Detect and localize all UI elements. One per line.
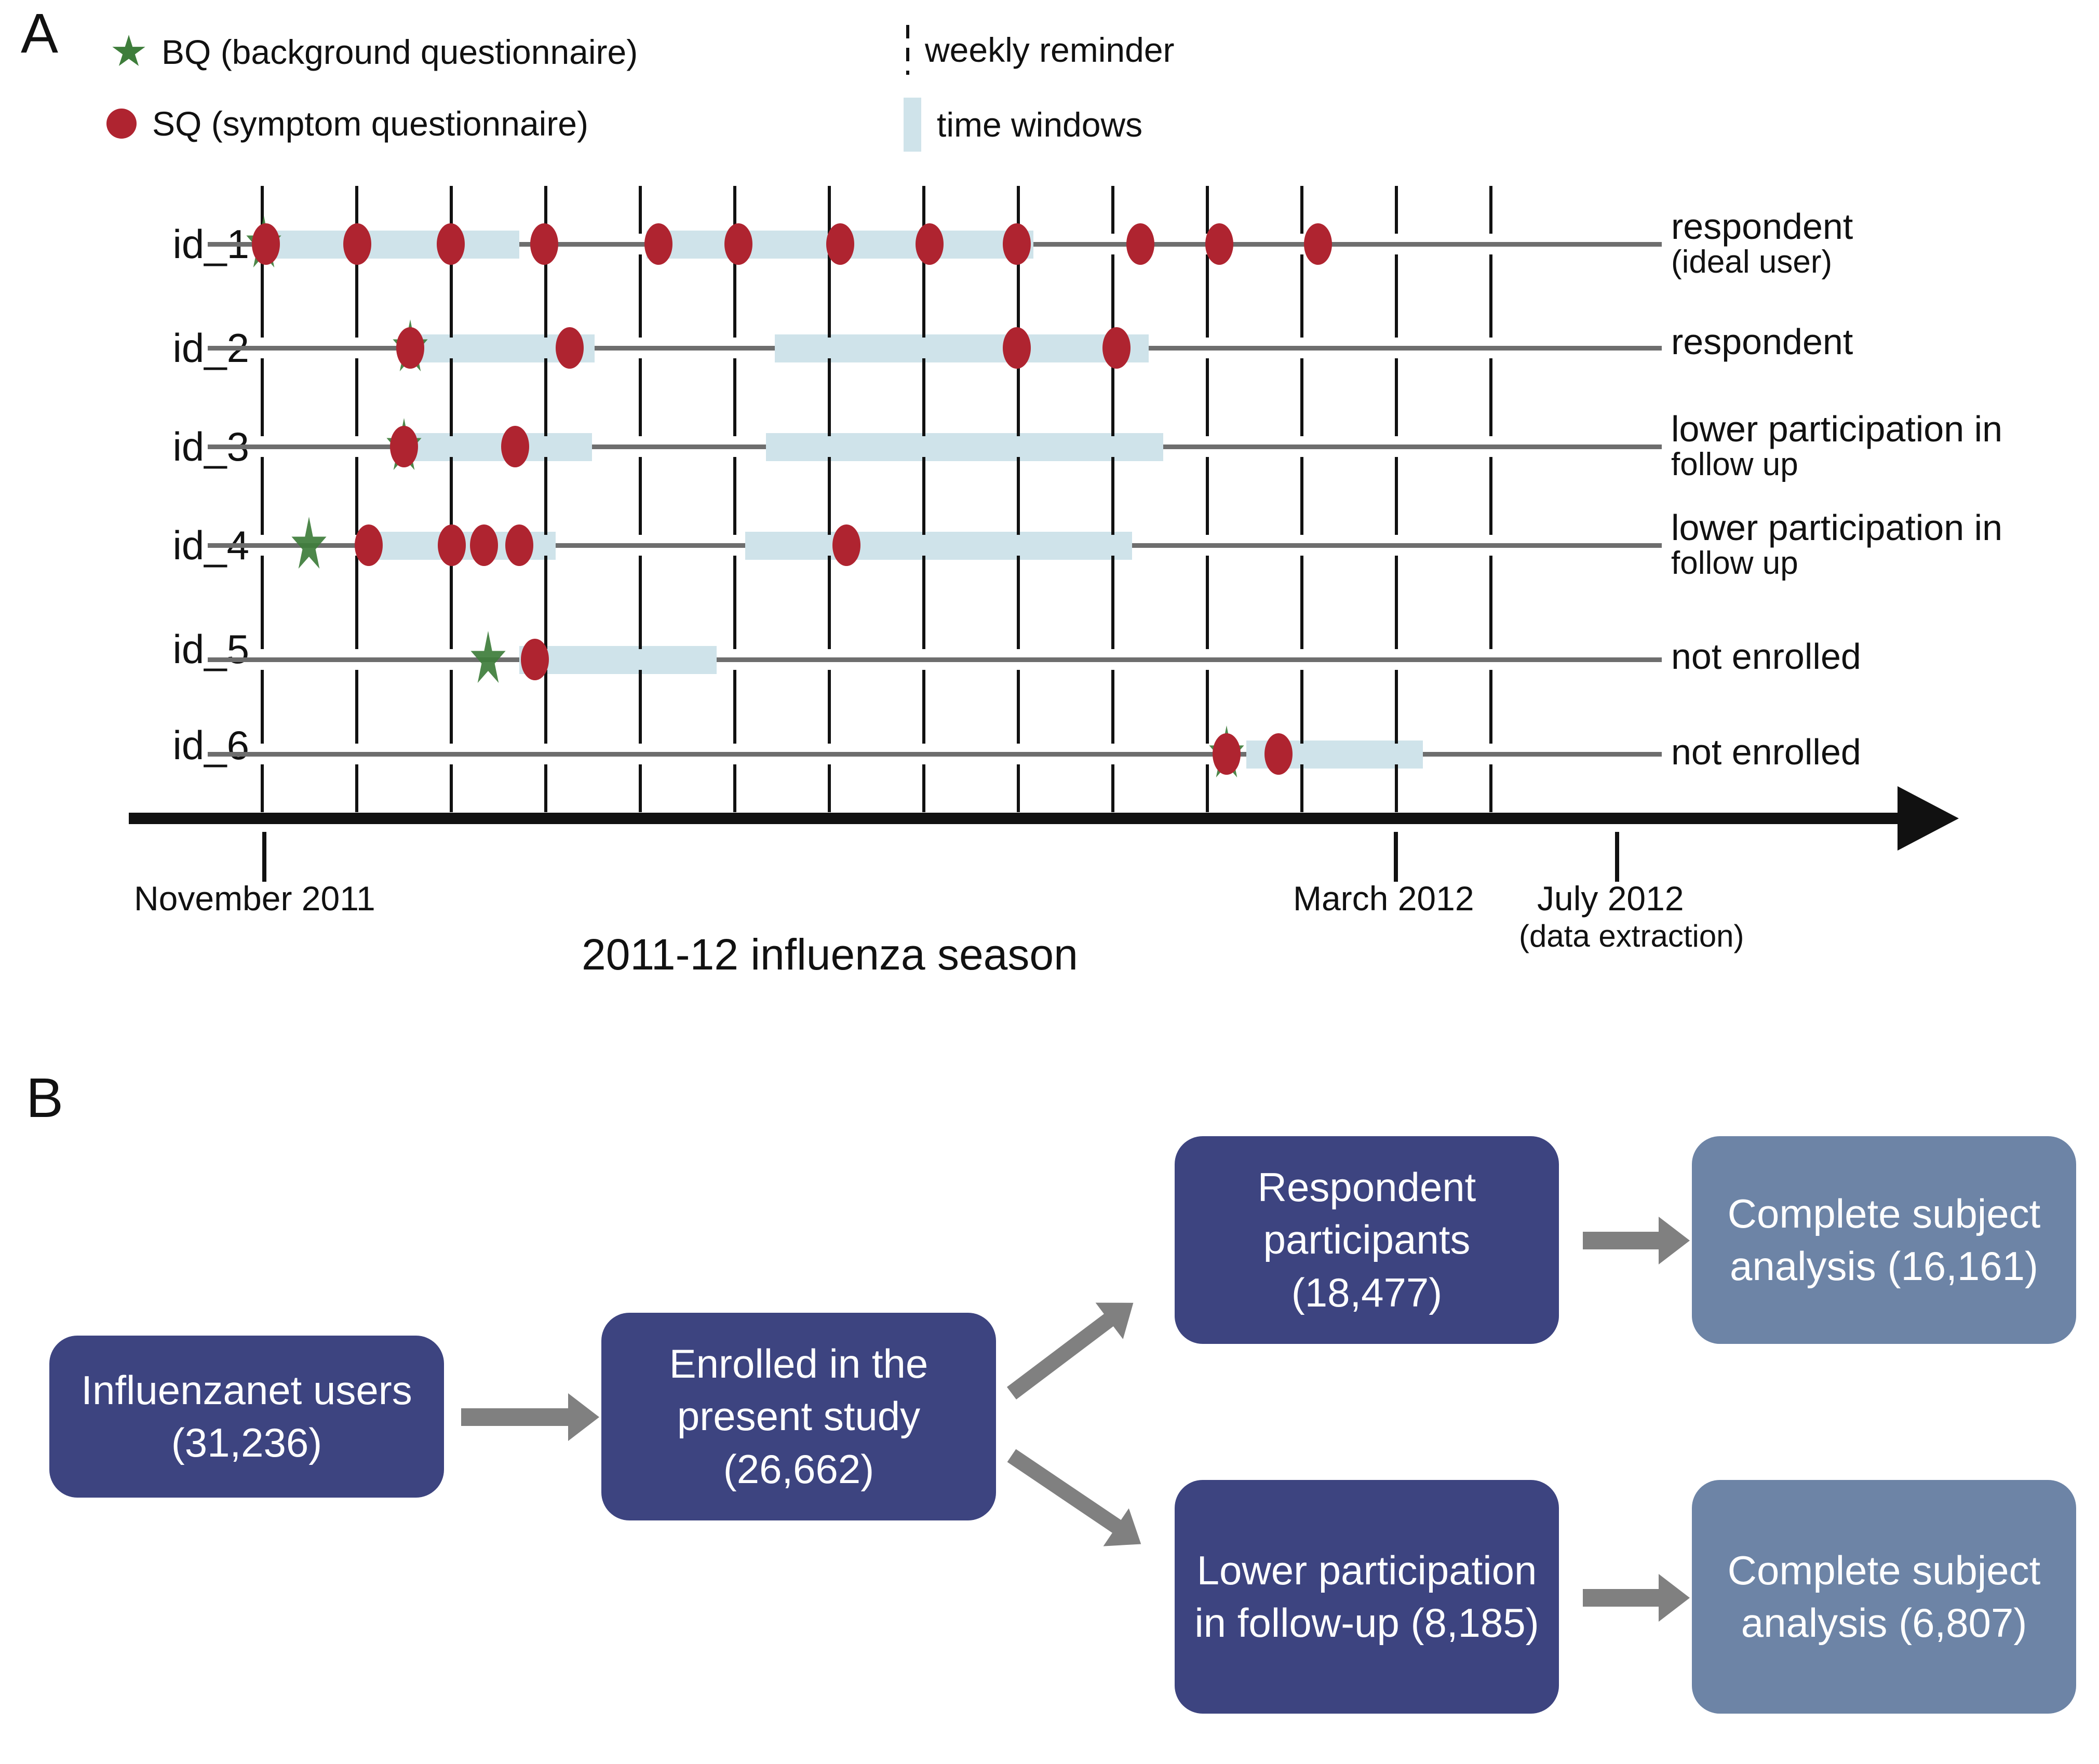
flow-box-complete-subject-analysis-lower[interactable]: Complete subject analysis (6,807): [1692, 1480, 2076, 1714]
weekly-reminder-tick: [733, 290, 736, 338]
weekly-reminder-tick: [1111, 764, 1114, 812]
weekly-reminder-tick: [1017, 696, 1020, 744]
weekly-reminder-tick: [922, 556, 925, 603]
weekly-reminder-tick: [1111, 487, 1114, 535]
row-note-main: not enrolled: [1671, 732, 1861, 772]
weekly-reminder-tick: [733, 696, 736, 744]
weekly-reminder-tick: [1489, 601, 1492, 649]
row-note-main: respondent: [1671, 321, 1853, 362]
row-axis-id-5: [208, 657, 1662, 662]
sq-marker: [521, 639, 549, 680]
weekly-reminder-tick: [639, 388, 642, 436]
row-note-id-4: lower participation in follow up: [1671, 509, 2002, 580]
arrow-enrolled-to-lower-icon: [1007, 1449, 1124, 1535]
weekly-reminder-tick: [828, 290, 831, 338]
weekly-reminder-tick: [1395, 764, 1398, 812]
weekly-reminder-tick: [828, 764, 831, 812]
weekly-reminder-tick: [261, 601, 264, 649]
sq-marker: [343, 223, 371, 265]
weekly-reminder-tick: [1111, 601, 1114, 649]
row-note-id-6: not enrolled: [1671, 733, 1861, 771]
weekly-reminder-tick: [1395, 388, 1398, 436]
weekly-reminder-tick: [733, 388, 736, 436]
weekly-reminder-tick: [828, 487, 831, 535]
weekly-reminder-tick: [261, 764, 264, 812]
weekly-reminder-tick: [1300, 186, 1303, 234]
weekly-reminder-tick: [1489, 764, 1492, 812]
weekly-reminder-tick: [261, 696, 264, 744]
sq-marker: [1003, 327, 1031, 369]
row-note-sub: follow up: [1671, 448, 2002, 481]
weekly-reminder-tick: [261, 487, 264, 535]
weekly-reminder-tick: [1017, 601, 1020, 649]
row-note-main: lower participation in: [1671, 409, 2002, 449]
weekly-reminder-tick: [544, 388, 547, 436]
weekly-reminder-tick: [261, 388, 264, 436]
weekly-reminder-tick: [261, 290, 264, 338]
weekly-reminder-tick: [544, 290, 547, 338]
weekly-reminder-tick: [1300, 290, 1303, 338]
axis-tick-july: [1615, 832, 1619, 882]
row-note-id-5: not enrolled: [1671, 638, 1861, 676]
weekly-reminder-tick: [544, 601, 547, 649]
sq-marker: [530, 223, 558, 265]
weekly-reminder-tick: [922, 290, 925, 338]
row-note-id-1: respondent (ideal user): [1671, 208, 1853, 279]
sq-marker: [1102, 327, 1131, 369]
weekly-reminder-tick: [922, 764, 925, 812]
weekly-reminder-tick: [922, 388, 925, 436]
weekly-reminder-tick: [1300, 696, 1303, 744]
sq-marker: [1264, 733, 1293, 775]
weekly-reminder-tick: [639, 487, 642, 535]
sq-marker: [505, 524, 533, 566]
row-note-main: respondent: [1671, 206, 1853, 247]
weekly-reminder-tick: [922, 601, 925, 649]
row-note-main: lower participation in: [1671, 507, 2002, 548]
weekly-reminder-tick: [1395, 696, 1398, 744]
weekly-reminder-tick: [639, 290, 642, 338]
time-window: [775, 334, 1149, 362]
timeline-chart: id_1 respondent (ideal user) id_2 respon…: [0, 0, 2099, 987]
time-window: [266, 231, 519, 259]
weekly-reminder-tick: [1489, 388, 1492, 436]
weekly-reminder-tick: [1111, 186, 1114, 234]
sq-marker: [396, 327, 424, 369]
weekly-reminder-tick: [1489, 186, 1492, 234]
weekly-reminder-tick: [1206, 388, 1209, 436]
arrow-users-to-enrolled-icon: [461, 1408, 570, 1426]
arrow-lower-to-complete-icon: [1583, 1589, 1661, 1607]
row-note-sub: follow up: [1671, 547, 2002, 580]
weekly-reminder-tick: [1300, 487, 1303, 535]
weekly-reminder-tick: [733, 487, 736, 535]
weekly-reminder-tick: [922, 487, 925, 535]
weekly-reminder-tick: [639, 556, 642, 603]
weekly-reminder-tick: [1489, 290, 1492, 338]
weekly-reminder-tick: [450, 290, 453, 338]
sq-marker: [1003, 223, 1031, 265]
weekly-reminder-tick: [828, 696, 831, 744]
sq-marker: [724, 223, 752, 265]
weekly-reminder-tick: [450, 388, 453, 436]
axis-tick-march: [1394, 832, 1398, 882]
flowchart: Influenzanet users (31,236) Enrolled in …: [0, 1065, 2099, 1760]
weekly-reminder-tick: [355, 601, 358, 649]
weekly-reminder-tick: [450, 764, 453, 812]
time-window: [519, 646, 717, 674]
sq-marker: [916, 223, 944, 265]
row-label-id-6: id_6: [78, 722, 249, 769]
sq-marker: [470, 524, 498, 566]
weekly-reminder-tick: [1395, 601, 1398, 649]
weekly-reminder-tick: [355, 696, 358, 744]
weekly-reminder-tick: [639, 601, 642, 649]
row-note-sub: (ideal user): [1671, 246, 1853, 279]
row-note-id-2: respondent: [1671, 323, 1853, 361]
weekly-reminder-tick: [544, 487, 547, 535]
weekly-reminder-tick: [1489, 487, 1492, 535]
weekly-reminder-tick: [733, 764, 736, 812]
weekly-reminder-tick: [1017, 388, 1020, 436]
weekly-reminder-tick: [1017, 764, 1020, 812]
flow-box-influenzanet-users[interactable]: Influenzanet users (31,236): [49, 1336, 444, 1498]
weekly-reminder-tick: [1395, 487, 1398, 535]
weekly-reminder-tick: [1111, 696, 1114, 744]
row-label-id-5: id_5: [78, 626, 249, 673]
axis-line: [129, 813, 1915, 824]
sq-marker: [1213, 733, 1241, 775]
arrow-respondent-to-complete-icon: [1583, 1232, 1661, 1249]
sq-marker: [437, 223, 465, 265]
flow-box-enrolled-present-study[interactable]: Enrolled in the present study (26,662): [601, 1313, 996, 1520]
sq-marker: [252, 223, 280, 265]
weekly-reminder-tick: [1206, 290, 1209, 338]
weekly-reminder-tick: [1395, 186, 1398, 234]
weekly-reminder-tick: [544, 696, 547, 744]
sq-marker: [390, 426, 418, 467]
weekly-reminder-tick: [450, 601, 453, 649]
weekly-reminder-tick: [1395, 290, 1398, 338]
sq-marker: [1126, 223, 1154, 265]
weekly-reminder-tick: [544, 764, 547, 812]
axis-label-july: July 2012: [1537, 879, 1684, 918]
time-axis-arrow: [129, 808, 1957, 829]
weekly-reminder-tick: [639, 186, 642, 234]
weekly-reminder-tick: [1489, 696, 1492, 744]
weekly-reminder-tick: [733, 601, 736, 649]
axis-arrowhead-icon: [1898, 786, 1959, 851]
weekly-reminder-tick: [828, 388, 831, 436]
weekly-reminder-tick: [1300, 556, 1303, 603]
weekly-reminder-tick: [828, 186, 831, 234]
weekly-reminder-tick: [261, 556, 264, 603]
row-axis-id-6: [208, 752, 1662, 757]
arrow-enrolled-to-respondent-icon: [1007, 1312, 1116, 1399]
axis-label-november: November 2011: [134, 879, 375, 918]
sq-marker: [644, 223, 672, 265]
time-window: [745, 532, 1132, 560]
season-caption: 2011-12 influenza season: [582, 930, 1078, 980]
weekly-reminder-tick: [1395, 556, 1398, 603]
weekly-reminder-tick: [1111, 556, 1114, 603]
row-note-id-3: lower participation in follow up: [1671, 410, 2002, 481]
weekly-reminder-tick: [544, 556, 547, 603]
weekly-reminder-tick: [355, 388, 358, 436]
weekly-reminder-tick: [1206, 764, 1209, 812]
sq-marker: [355, 524, 383, 566]
weekly-reminder-tick: [639, 696, 642, 744]
flow-box-respondent-participants[interactable]: Respondent participants (18,477): [1175, 1136, 1559, 1344]
weekly-reminder-tick: [1300, 388, 1303, 436]
weekly-reminder-tick: [1206, 186, 1209, 234]
axis-label-july-sub: (data extraction): [1519, 918, 1744, 954]
weekly-reminder-tick: [1206, 487, 1209, 535]
weekly-reminder-tick: [1300, 601, 1303, 649]
weekly-reminder-tick: [355, 290, 358, 338]
weekly-reminder-tick: [355, 764, 358, 812]
weekly-reminder-tick: [1206, 556, 1209, 603]
weekly-reminder-tick: [922, 696, 925, 744]
weekly-reminder-tick: [355, 487, 358, 535]
sq-marker: [501, 426, 529, 467]
weekly-reminder-tick: [1017, 556, 1020, 603]
flow-box-complete-subject-analysis-respondent[interactable]: Complete subject analysis (16,161): [1692, 1136, 2076, 1344]
flow-box-lower-participation-followup[interactable]: Lower participation in follow-up (8,185): [1175, 1480, 1559, 1714]
axis-label-march: March 2012: [1293, 879, 1474, 918]
sq-marker: [1205, 223, 1233, 265]
sq-marker: [832, 524, 860, 566]
weekly-reminder-tick: [1111, 388, 1114, 436]
row-note-main: not enrolled: [1671, 636, 1861, 677]
weekly-reminder-tick: [639, 764, 642, 812]
sq-marker: [1304, 223, 1332, 265]
weekly-reminder-tick: [1300, 764, 1303, 812]
sq-marker: [438, 524, 466, 566]
weekly-reminder-tick: [355, 556, 358, 603]
weekly-reminder-tick: [828, 601, 831, 649]
weekly-reminder-tick: [1206, 696, 1209, 744]
weekly-reminder-tick: [1489, 556, 1492, 603]
time-window: [766, 433, 1163, 461]
sq-marker: [826, 223, 854, 265]
weekly-reminder-tick: [1017, 487, 1020, 535]
weekly-reminder-tick: [828, 556, 831, 603]
weekly-reminder-tick: [1206, 601, 1209, 649]
weekly-reminder-tick: [450, 696, 453, 744]
sq-marker: [556, 327, 584, 369]
weekly-reminder-tick: [733, 556, 736, 603]
axis-tick-november: [262, 832, 266, 882]
